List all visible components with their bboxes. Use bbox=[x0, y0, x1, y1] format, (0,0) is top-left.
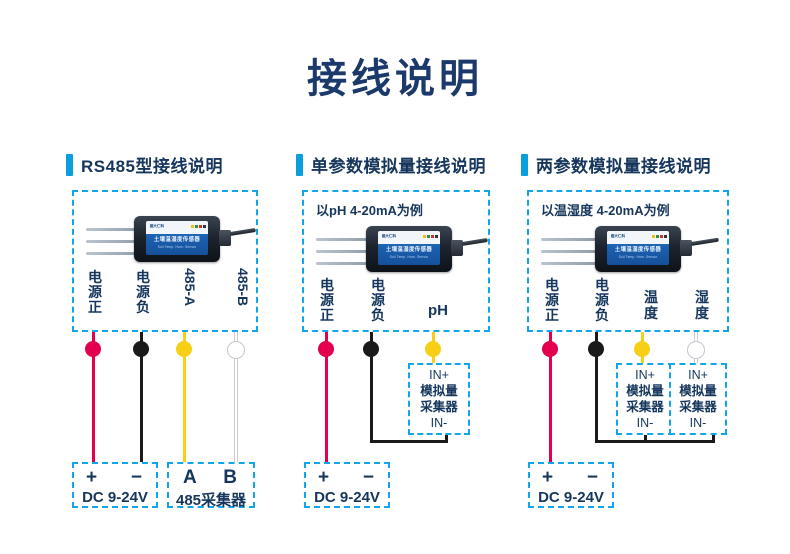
white-wire-terminal-dot bbox=[227, 341, 245, 359]
accent-bar-icon bbox=[66, 154, 73, 176]
collector-in-minus: IN- bbox=[431, 416, 448, 431]
white-wire-terminal-dot bbox=[687, 341, 705, 359]
collector-in-plus: IN+ bbox=[429, 368, 449, 383]
analog-collector-box-2: IN+ 模拟量 采集器 IN- bbox=[669, 363, 727, 435]
collector-in-minus: IN- bbox=[690, 416, 707, 431]
red-wire-terminal-dot bbox=[85, 341, 101, 357]
section-title-rs485: RS485型接线说明 bbox=[81, 152, 223, 177]
pin-label-485b: 485-B bbox=[235, 268, 251, 306]
device-box-single-analog: 以pH 4-20mA为例 建大仁科 土壤温湿度传感器 Soil Temp. Hu… bbox=[302, 190, 490, 332]
collector-name-line2: 采集器 bbox=[420, 400, 458, 415]
section-title-dual-analog: 两参数模拟量接线说明 bbox=[536, 152, 711, 177]
section-header-dual-analog: 两参数模拟量接线说明 bbox=[521, 152, 711, 177]
terminal-box-485-collector: A B 485采集器 bbox=[167, 462, 255, 508]
accent-bar-icon bbox=[296, 154, 303, 176]
black-wire-bus bbox=[370, 440, 448, 443]
terminal-symbol-plus: + bbox=[86, 467, 97, 489]
yellow-wire-terminal-dot bbox=[176, 341, 192, 357]
pin-label-power-minus: 电源负 bbox=[135, 270, 151, 315]
red-wire-terminal-dot bbox=[318, 341, 334, 357]
collector-name-line1: 模拟量 bbox=[626, 384, 664, 399]
pin-label-power-plus: 电源正 bbox=[544, 278, 560, 323]
pin-label-humidity: 湿度 bbox=[693, 289, 711, 321]
collector-name-line1: 模拟量 bbox=[420, 384, 458, 399]
yellow-wire-terminal-dot bbox=[425, 341, 441, 357]
pin-label-power-plus: 电源正 bbox=[319, 278, 335, 323]
terminal-box-dc-power-2: + − DC 9-24V bbox=[304, 462, 390, 508]
terminal-symbol-b: B bbox=[223, 467, 237, 489]
black-wire-terminal-dot bbox=[588, 341, 604, 357]
black-wire-terminal-dot bbox=[133, 341, 149, 357]
pin-label-ph: pH bbox=[428, 302, 448, 319]
pin-label-485a: 485-A bbox=[182, 268, 198, 306]
collector-in-plus: IN+ bbox=[635, 368, 655, 383]
accent-bar-icon bbox=[521, 154, 528, 176]
terminal-caption-dc: DC 9-24V bbox=[306, 489, 388, 506]
collector-in-plus: IN+ bbox=[688, 368, 708, 383]
terminal-caption-dc: DC 9-24V bbox=[74, 489, 156, 506]
section-title-single-analog: 单参数模拟量接线说明 bbox=[311, 152, 486, 177]
collector-name-line2: 采集器 bbox=[679, 400, 717, 415]
terminal-box-dc-power-3: + − DC 9-24V bbox=[528, 462, 614, 508]
analog-collector-box-1: IN+ 模拟量 采集器 IN- bbox=[616, 363, 674, 435]
black-wire-bus bbox=[595, 440, 715, 443]
pin-label-temperature: 温度 bbox=[642, 289, 660, 321]
analog-collector-box-1: IN+ 模拟量 采集器 IN- bbox=[408, 363, 470, 435]
device-box-rs485: 建大仁科 土壤温湿度传感器 Soil Temp. Hum. Sensor 电源正… bbox=[72, 190, 258, 332]
device-box-dual-analog: 以温湿度 4-20mA为例 建大仁科 土壤温湿度传感器 Soil Temp. H… bbox=[527, 190, 729, 332]
pin-label-power-minus: 电源负 bbox=[594, 278, 610, 323]
section-header-rs485: RS485型接线说明 bbox=[66, 152, 223, 177]
example-note-ph: 以pH 4-20mA为例 bbox=[316, 200, 423, 219]
terminal-box-dc-power-1: + − DC 9-24V bbox=[72, 462, 158, 508]
collector-in-minus: IN- bbox=[637, 416, 654, 431]
collector-name-line1: 模拟量 bbox=[679, 384, 717, 399]
section-header-single-analog: 单参数模拟量接线说明 bbox=[296, 152, 486, 177]
page-title: 接线说明 bbox=[0, 46, 790, 104]
terminal-symbol-minus: − bbox=[363, 467, 374, 489]
terminal-symbol-a: A bbox=[183, 467, 197, 489]
terminal-caption-dc: DC 9-24V bbox=[530, 489, 612, 506]
pin-label-power-plus: 电源正 bbox=[87, 270, 103, 315]
terminal-caption-485: 485采集器 bbox=[169, 489, 253, 510]
pin-label-power-minus: 电源负 bbox=[370, 278, 386, 323]
terminal-symbol-minus: − bbox=[587, 467, 598, 489]
black-wire-terminal-dot bbox=[363, 341, 379, 357]
red-wire-terminal-dot bbox=[542, 341, 558, 357]
example-note-temp-hum: 以温湿度 4-20mA为例 bbox=[541, 200, 670, 219]
collector-name-line2: 采集器 bbox=[626, 400, 664, 415]
terminal-symbol-plus: + bbox=[318, 467, 329, 489]
terminal-symbol-plus: + bbox=[542, 467, 553, 489]
yellow-wire-terminal-dot bbox=[634, 341, 650, 357]
terminal-symbol-minus: − bbox=[131, 467, 142, 489]
